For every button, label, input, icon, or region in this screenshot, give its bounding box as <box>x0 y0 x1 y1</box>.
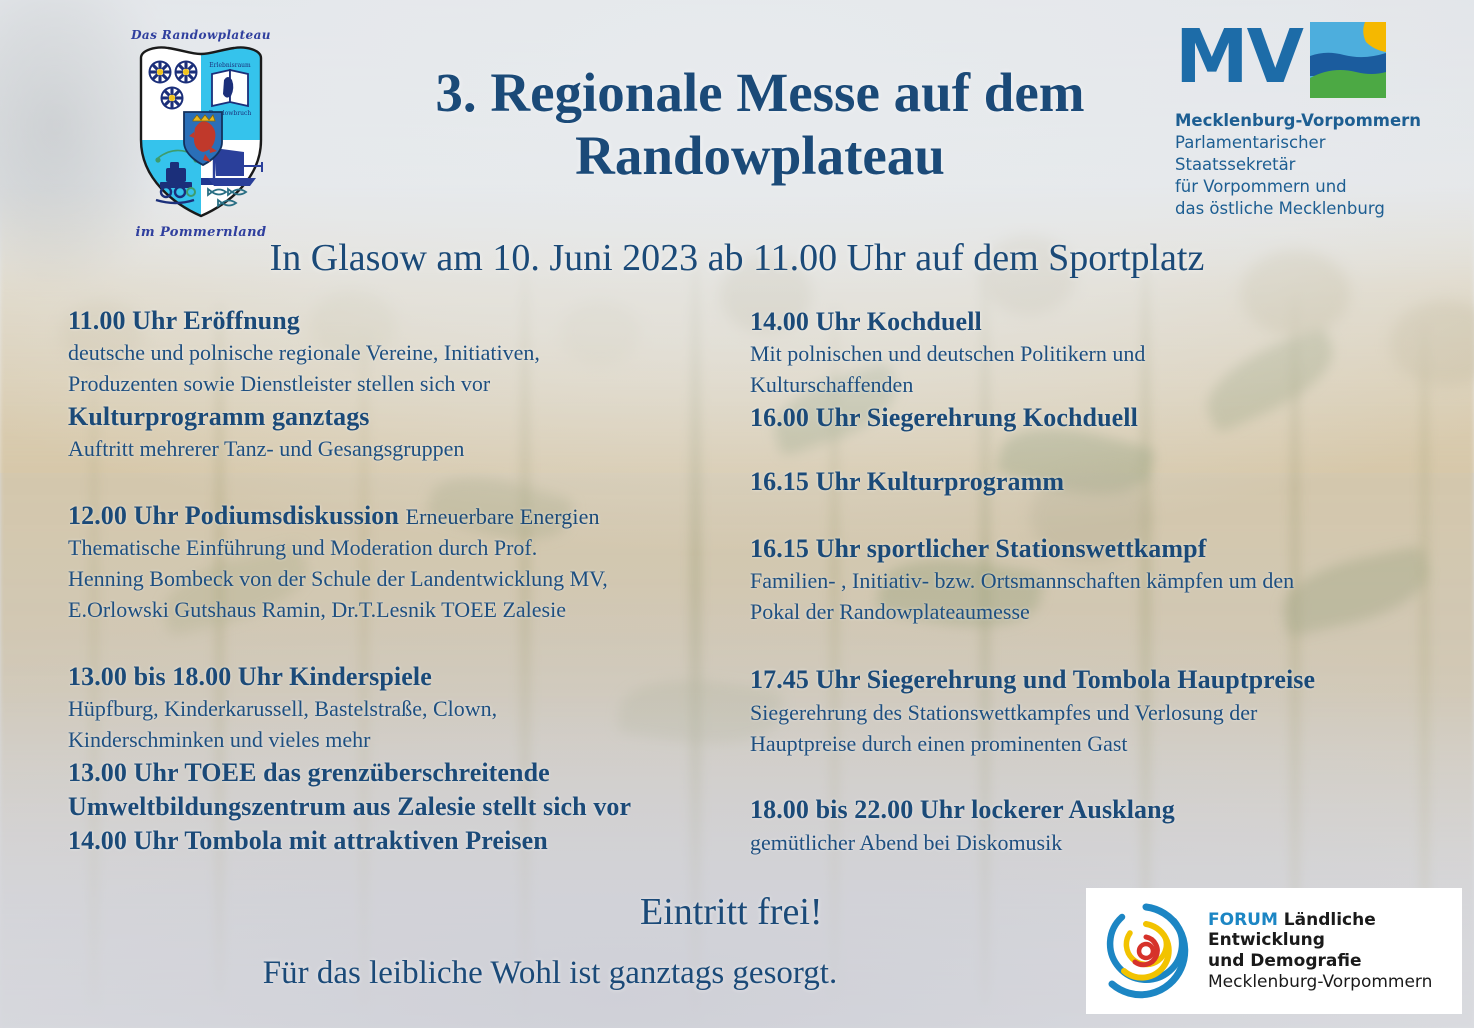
program-heading: Kulturprogramm ganztags <box>68 400 728 434</box>
program-body-line: Kinderschminken und vieles mehr <box>68 725 728 756</box>
page-title: 3. Regionale Messe auf dem Randowplateau <box>360 62 1160 187</box>
program-block-eroeffnung: 11.00 Uhr Eröffnung deutsche und polnisc… <box>68 304 728 465</box>
program-body-line: Auftritt mehrerer Tanz- und Gesangsgrupp… <box>68 434 728 465</box>
program-body-line: Pokal der Randowplateaumesse <box>750 597 1415 628</box>
program-body-line: Mit polnischen und deutschen Politikern … <box>750 339 1415 370</box>
program-body-line: Familien- , Initiativ- bzw. Ortsmannscha… <box>750 566 1415 597</box>
forum-line-2: und Demografie <box>1208 951 1454 971</box>
mv-line-3: für Vorpommern und <box>1175 176 1437 198</box>
program-body-line: Kulturschaffenden <box>750 370 1415 401</box>
title-line-2: Randowplateau <box>360 125 1160 188</box>
forum-spiral-icon <box>1094 899 1198 1003</box>
program-body-line: Thematische Einführung und Moderation du… <box>68 533 728 564</box>
program-body-line: Hüpfburg, Kinderkarussell, Bastelstraße,… <box>68 694 728 725</box>
program-heading: 18.00 bis 22.00 Uhr lockerer Ausklang <box>750 793 1415 827</box>
catering-note-text: Für das leibliche Wohl ist ganztags geso… <box>40 955 1060 992</box>
program-heading: 17.45 Uhr Siegerehrung und Tombola Haupt… <box>750 663 1415 697</box>
program-heading: 13.00 Uhr TOEE das grenzüberschreitende <box>68 756 728 790</box>
program-heading: 12.00 Uhr Podiumsdiskussion <box>68 501 399 530</box>
program-body-line: Hauptpreise durch einen prominenten Gast <box>750 729 1415 760</box>
program-block-kochduell: 14.00 Uhr Kochduell Mit polnischen und d… <box>750 305 1415 435</box>
coat-of-arms-top-text: Das Randowplateau <box>96 28 306 42</box>
randowplateau-coat-of-arms-logo: Das Randowplateau <box>96 20 306 242</box>
program-heading: 16.15 Uhr sportlicher Stationswettkampf <box>750 532 1415 566</box>
program-body-line: Siegerehrung des Stationswettkampfes und… <box>750 698 1415 729</box>
mv-logo: MV Mecklenburg-Vorpommern Parlamentarisc… <box>1175 22 1437 220</box>
program-heading: 14.00 Uhr Kochduell <box>750 305 1415 339</box>
program-heading: 14.00 Uhr Tombola mit attraktiven Preise… <box>68 824 728 858</box>
program-heading-tail: Erneuerbare Energien <box>406 504 600 529</box>
program-block-stationswettkampf: 16.15 Uhr sportlicher Stationswettkampf … <box>750 532 1415 628</box>
forum-line-1: FORUM Ländliche Entwicklung <box>1208 910 1454 951</box>
mv-line-1: Mecklenburg-Vorpommern <box>1175 110 1437 132</box>
program-heading: 11.00 Uhr Eröffnung <box>68 304 728 338</box>
program-body-line: E.Orlowski Gutshaus Ramin, Dr.T.Lesnik T… <box>68 595 728 626</box>
mv-line-2: Parlamentarischer Staatssekretär <box>1175 132 1437 176</box>
program-column-left: 11.00 Uhr Eröffnung deutsche und polnisc… <box>68 304 728 885</box>
program-heading: 16.00 Uhr Siegerehrung Kochduell <box>750 401 1415 435</box>
program-body-line: Henning Bombeck von der Schule der Lande… <box>68 564 728 595</box>
coat-of-arms-shield-icon: Erlebnisraum Randowbruch <box>96 20 306 242</box>
mv-letters: MV <box>1175 22 1302 93</box>
program-block-ausklang: 18.00 bis 22.00 Uhr lockerer Ausklang ge… <box>750 793 1415 858</box>
program-heading-row: 12.00 Uhr Podiumsdiskussion Erneuerbare … <box>68 499 728 533</box>
title-line-1: 3. Regionale Messe auf dem <box>360 62 1160 125</box>
mv-logo-text: Mecklenburg-Vorpommern Parlamentarischer… <box>1175 110 1437 220</box>
program-body-line: deutsche und polnische regionale Vereine… <box>68 338 728 369</box>
program-block-kulturprogramm: 16.15 Uhr Kulturprogramm <box>750 465 1415 499</box>
program-heading: Umweltbildungszentrum aus Zalesie stellt… <box>68 790 728 824</box>
program-body-line: gemütlicher Abend bei Diskomusik <box>750 828 1415 859</box>
forum-word: FORUM <box>1208 910 1278 930</box>
forum-line-3: Mecklenburg-Vorpommern <box>1208 972 1454 992</box>
event-subtitle: In Glasow am 10. Juni 2023 ab 11.00 Uhr … <box>40 236 1434 280</box>
free-admission-text: Eintritt frei! <box>640 890 823 934</box>
forum-logo: FORUM Ländliche Entwicklung und Demograf… <box>1086 888 1462 1014</box>
program-body-line: Produzenten sowie Dienstleister stellen … <box>68 369 728 400</box>
program-heading: 16.15 Uhr Kulturprogramm <box>750 465 1415 499</box>
mv-landscape-icon <box>1310 22 1386 98</box>
mv-line-4: das östliche Mecklenburg <box>1175 198 1437 220</box>
program-block-podiumsdiskussion: 12.00 Uhr Podiumsdiskussion Erneuerbare … <box>68 499 728 626</box>
program-column-right: 14.00 Uhr Kochduell Mit polnischen und d… <box>750 305 1415 884</box>
program-block-kinderspiele: 13.00 bis 18.00 Uhr Kinderspiele Hüpfbur… <box>68 660 728 859</box>
program-block-siegerehrung-tombola: 17.45 Uhr Siegerehrung und Tombola Haupt… <box>750 663 1415 759</box>
event-poster: Das Randowplateau <box>0 0 1474 1028</box>
forum-logo-text: FORUM Ländliche Entwicklung und Demograf… <box>1208 910 1454 993</box>
program-heading: 13.00 bis 18.00 Uhr Kinderspiele <box>68 660 728 694</box>
svg-text:Erlebnisraum: Erlebnisraum <box>209 62 251 69</box>
